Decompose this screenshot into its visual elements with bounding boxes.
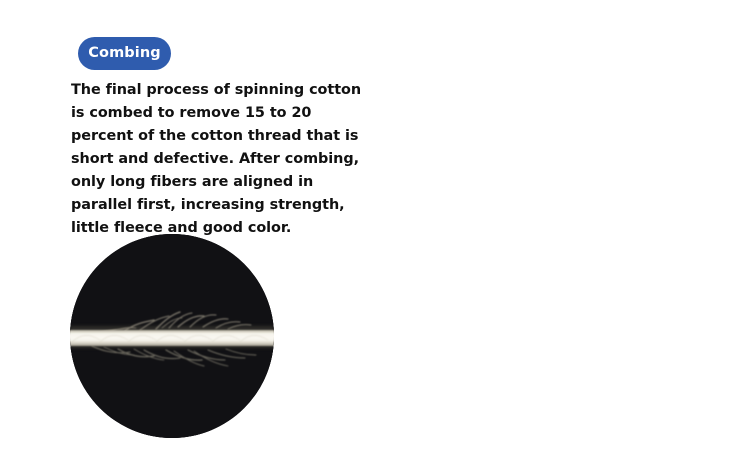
photo-combed-thread xyxy=(70,234,274,438)
column-general-comb: General comb Very ordinary cotton thread… xyxy=(375,0,750,464)
badge-combing-label: Combing xyxy=(88,44,160,63)
badge-combing: Combing xyxy=(78,37,171,70)
comparison-page: Combing The final process of spinning co… xyxy=(0,0,750,464)
combed-thread-illustration xyxy=(70,234,274,438)
column-combing: Combing The final process of spinning co… xyxy=(0,0,375,464)
paragraph-combing: The final process of spinning cotton is … xyxy=(71,79,363,240)
